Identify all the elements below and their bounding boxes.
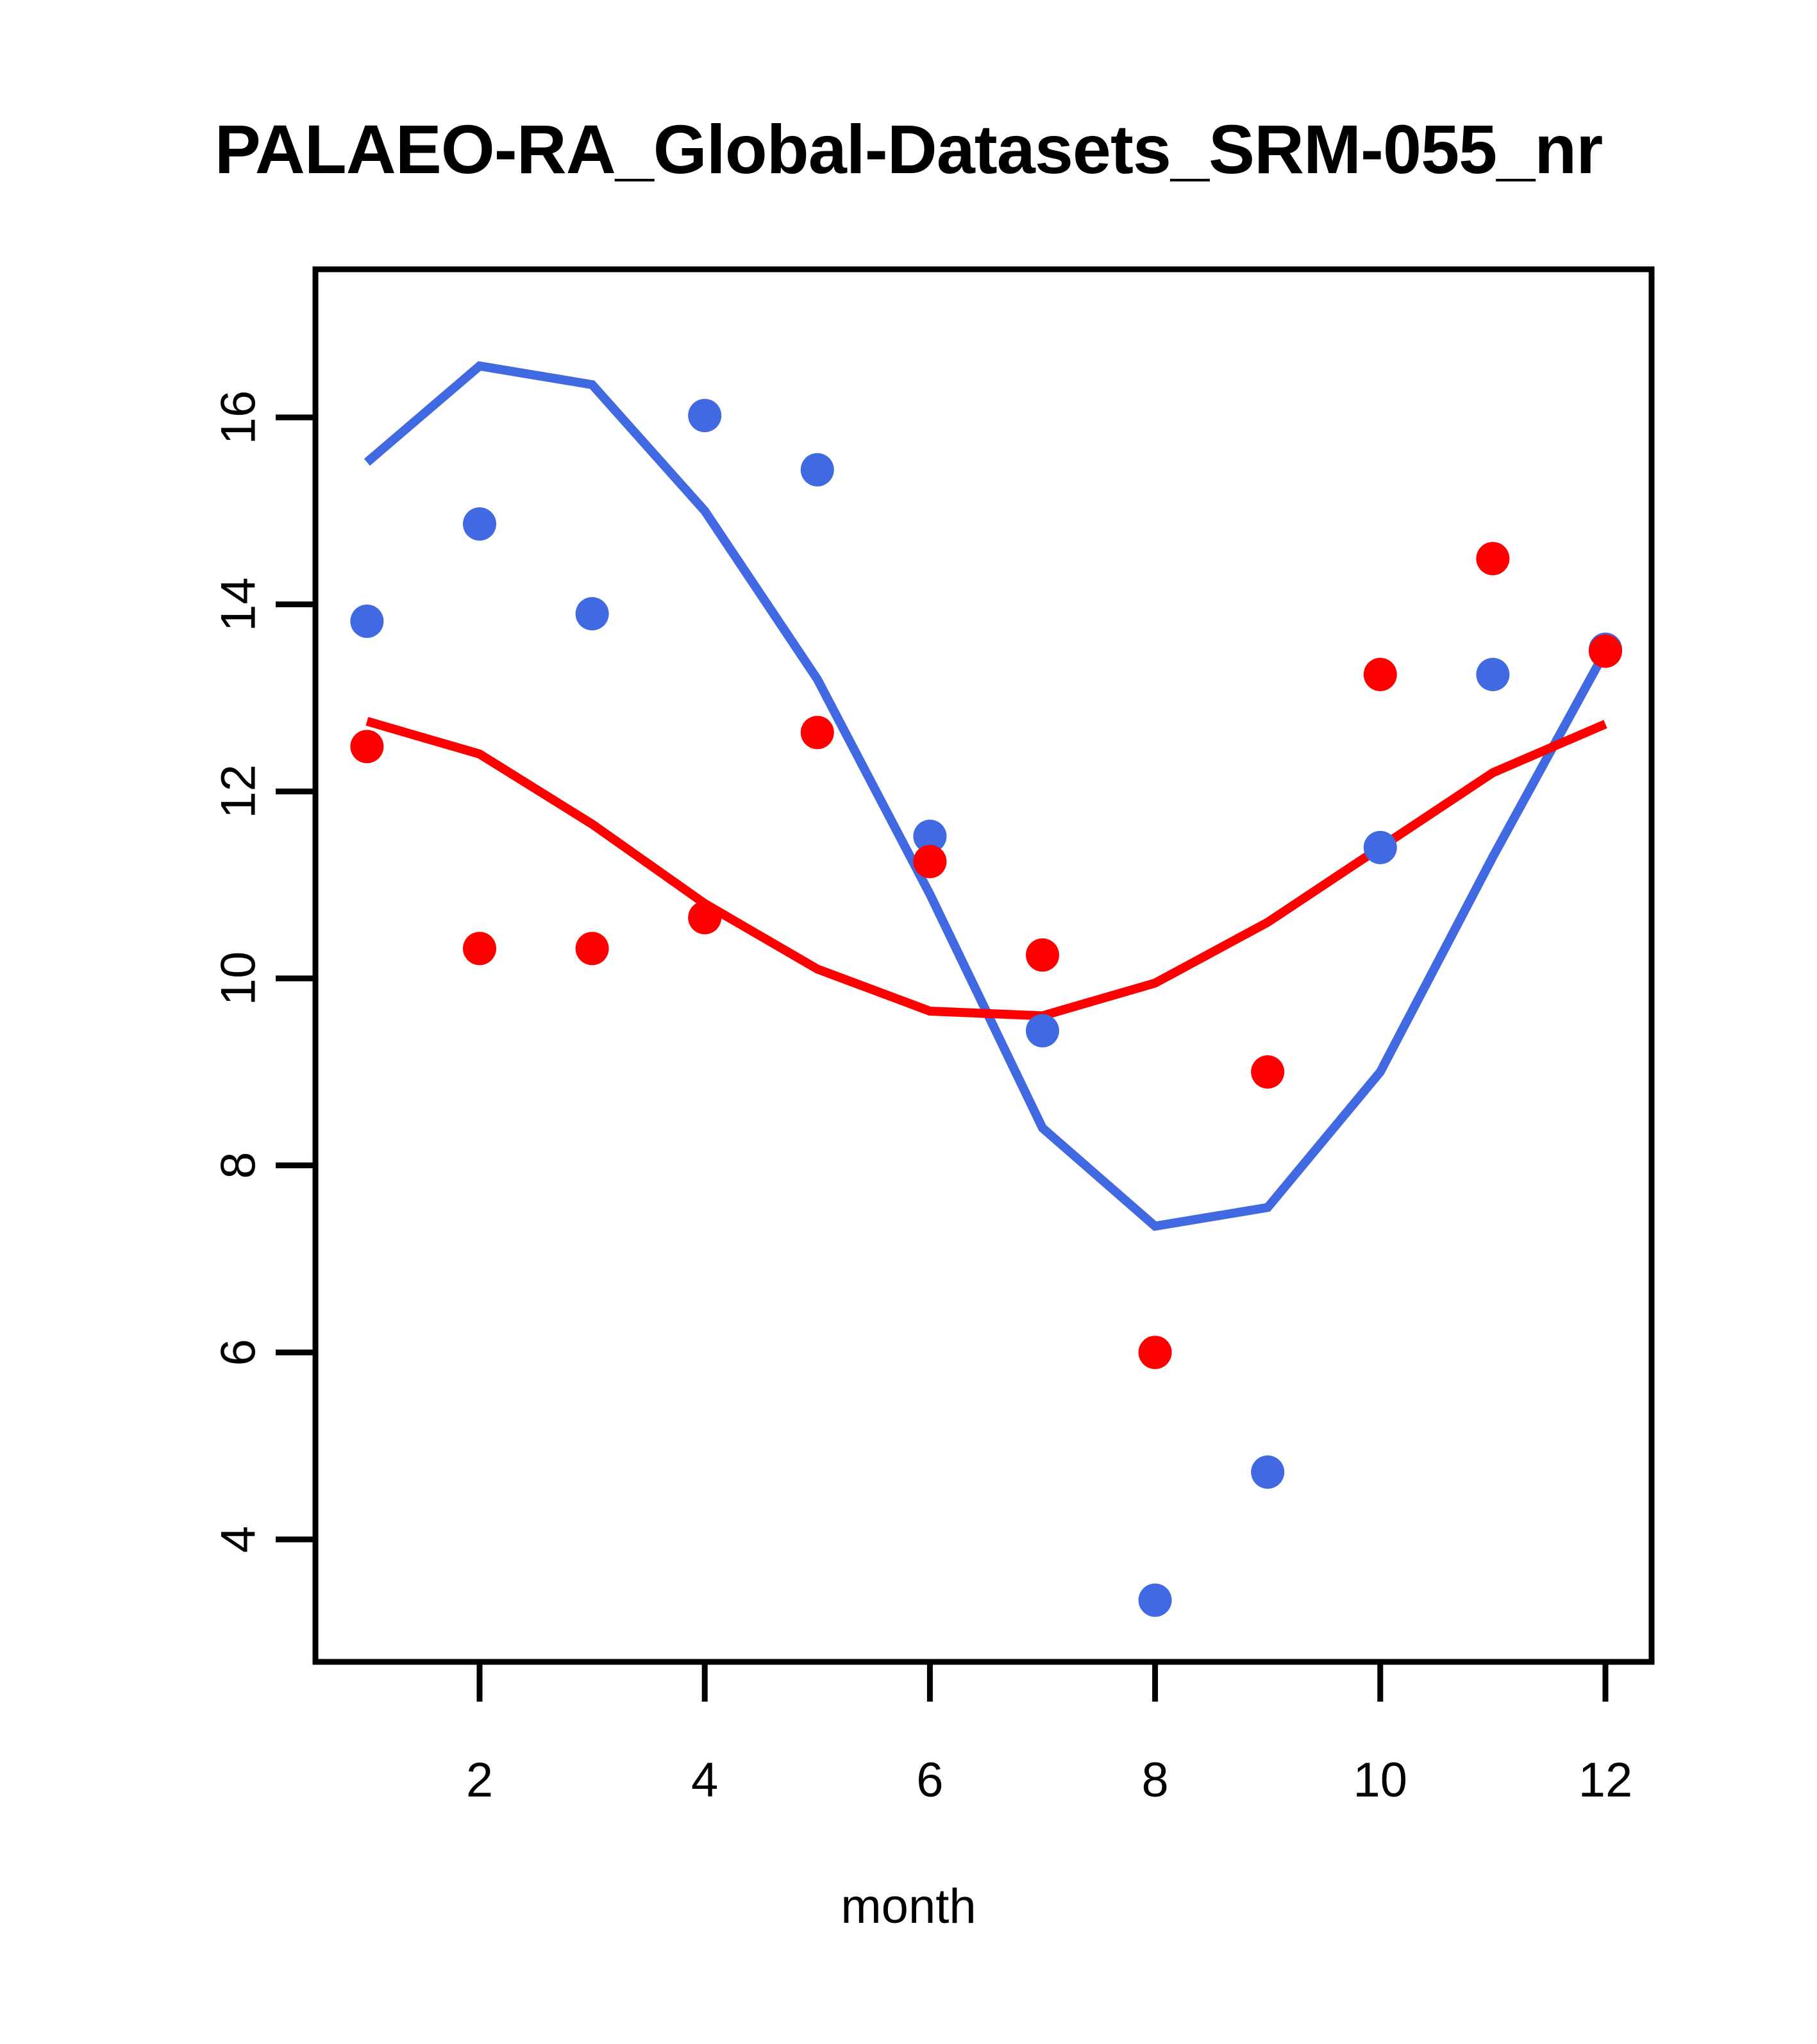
x-axis-ticks — [480, 1662, 1605, 1702]
data-point-red-points-m7 — [1026, 939, 1059, 972]
data-point-blue-points-m1 — [350, 605, 383, 638]
x-tick-label-10: 10 — [1353, 1753, 1408, 1807]
x-tick-label-4: 4 — [691, 1753, 718, 1807]
series-line-red-line — [367, 721, 1605, 1016]
y-tick-label-14: 14 — [212, 577, 266, 632]
data-point-red-points-m1 — [350, 730, 383, 763]
data-point-blue-points-m2 — [463, 507, 496, 540]
data-point-red-points-m4 — [688, 901, 721, 934]
data-point-blue-points-m5 — [801, 453, 834, 487]
y-tick-label-12: 12 — [212, 764, 266, 819]
data-point-blue-points-m11 — [1476, 658, 1509, 691]
chart-figure: PALAEO-RA_Global-Datasets_SRM-055_nr 246… — [0, 0, 1817, 2044]
y-tick-label-4: 4 — [212, 1526, 266, 1553]
y-tick-label-16: 16 — [212, 390, 266, 445]
plot-canvas: 24681012 46810121416 — [0, 0, 1817, 2044]
data-point-red-points-m11 — [1476, 542, 1509, 575]
y-tick-label-6: 6 — [212, 1339, 266, 1366]
x-tick-label-8: 8 — [1141, 1753, 1168, 1807]
x-axis-label: month — [0, 1879, 1817, 1934]
data-point-red-points-m3 — [576, 932, 609, 965]
data-point-red-points-m12 — [1589, 635, 1622, 668]
data-point-blue-points-m10 — [1364, 831, 1397, 864]
data-point-red-points-m10 — [1364, 658, 1397, 691]
y-tick-label-10: 10 — [212, 951, 266, 1006]
data-point-red-points-m8 — [1139, 1336, 1172, 1369]
x-tick-label-12: 12 — [1578, 1753, 1633, 1807]
x-tick-label-6: 6 — [916, 1753, 943, 1807]
data-point-blue-points-m8 — [1139, 1584, 1172, 1617]
data-point-blue-points-m4 — [688, 399, 721, 432]
series-lines — [367, 366, 1605, 1227]
x-tick-label-2: 2 — [466, 1753, 493, 1807]
data-point-red-points-m6 — [913, 845, 946, 878]
data-point-blue-points-m9 — [1251, 1455, 1284, 1489]
data-point-red-points-m9 — [1251, 1055, 1284, 1089]
y-axis-ticks — [276, 417, 315, 1539]
axis-box — [315, 269, 1652, 1662]
data-point-blue-points-m7 — [1026, 1014, 1059, 1048]
data-point-blue-points-m3 — [576, 597, 609, 630]
data-point-red-points-m2 — [463, 932, 496, 965]
y-tick-labels: 46810121416 — [212, 390, 266, 1553]
y-tick-label-8: 8 — [212, 1152, 266, 1179]
data-point-red-points-m5 — [801, 716, 834, 749]
x-tick-labels: 24681012 — [466, 1753, 1632, 1807]
